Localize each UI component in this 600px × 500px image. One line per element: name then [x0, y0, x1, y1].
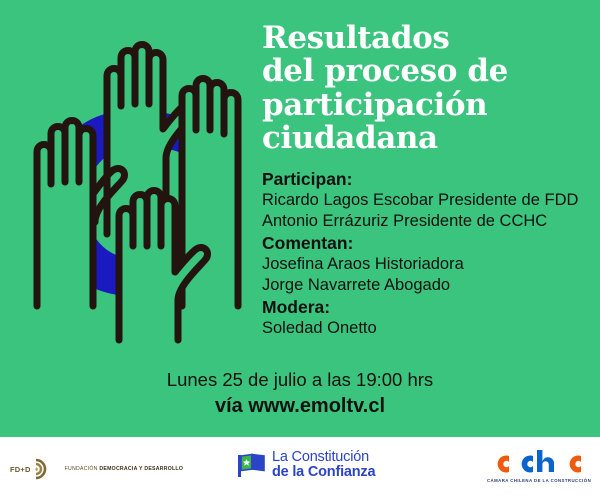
fdd-concentric-arcs-icon: [32, 456, 58, 482]
event-poster: Resultados del proceso de participación …: [0, 0, 600, 500]
fdd-logomark: FD+D: [10, 456, 58, 482]
credits-person: Josefina Araos Historiadora: [262, 254, 596, 275]
logo-la-constitucion-de-la-confianza: La Constitución de la Confianza: [237, 450, 375, 480]
credits-list: Participan: Ricardo Lagos Escobar Presid…: [262, 168, 596, 339]
logo-fundacion-democracia-y-desarrollo: FD+D FUNDACIÓN DEMOCRACIA Y DESARROLLO: [10, 456, 183, 482]
credits-label-comentan: Comentan:: [262, 232, 596, 254]
fdd-word-fundacion: FUNDACIÓN: [65, 466, 100, 472]
page-title: Resultados del proceso de participación …: [262, 22, 596, 156]
raised-hands-letter-c-illustration: [6, 34, 256, 344]
title-line-2: del proceso de: [262, 55, 596, 88]
broadcast-date: Lunes 25 de julio a las 19:00 hrs: [0, 368, 600, 391]
credits-person: Soledad Onetto: [262, 318, 596, 339]
cchc-subtitle: CÁMARA CHILENA DE LA CONSTRUCCIÓN: [487, 478, 587, 483]
cchc-wordmark-icon: [487, 449, 587, 477]
flag-book-icon: [237, 452, 267, 479]
constitucion-line-1: La Constitución: [272, 450, 375, 465]
sponsor-footer: FD+D FUNDACIÓN DEMOCRACIA Y DESARROLLO: [0, 437, 600, 500]
title-line-3: participación: [262, 89, 596, 122]
credits-label-participan: Participan:: [262, 168, 596, 190]
constitucion-wordmark: La Constitución de la Confianza: [272, 450, 375, 480]
title-line-4: ciudadana: [262, 122, 596, 155]
logo-camara-chilena-de-la-construccion: CÁMARA CHILENA DE LA CONSTRUCCIÓN: [487, 449, 587, 483]
credits-person: Ricardo Lagos Escobar Presidente de FDD: [262, 190, 596, 211]
credits-person: Antonio Errázuriz Presidente de CCHC: [262, 211, 596, 232]
hand-left: [37, 121, 93, 307]
credits-person: Jorge Navarrete Abogado: [262, 275, 596, 296]
fdd-initials: FD+D: [10, 465, 31, 474]
fdd-wordmark: FUNDACIÓN DEMOCRACIA Y DESARROLLO: [65, 466, 184, 472]
fdd-word-democracia-desarrollo: DEMOCRACIA Y DESARROLLO: [99, 466, 183, 472]
broadcast-info: Lunes 25 de julio a las 19:00 hrs vía ww…: [0, 368, 600, 419]
broadcast-channel-url: vía www.emoltv.cl: [0, 393, 600, 419]
title-line-1: Resultados: [262, 22, 596, 55]
credits-label-modera: Modera:: [262, 296, 596, 318]
poster-text-column: Resultados del proceso de participación …: [262, 22, 596, 339]
constitucion-line-2: de la Confianza: [272, 465, 375, 480]
